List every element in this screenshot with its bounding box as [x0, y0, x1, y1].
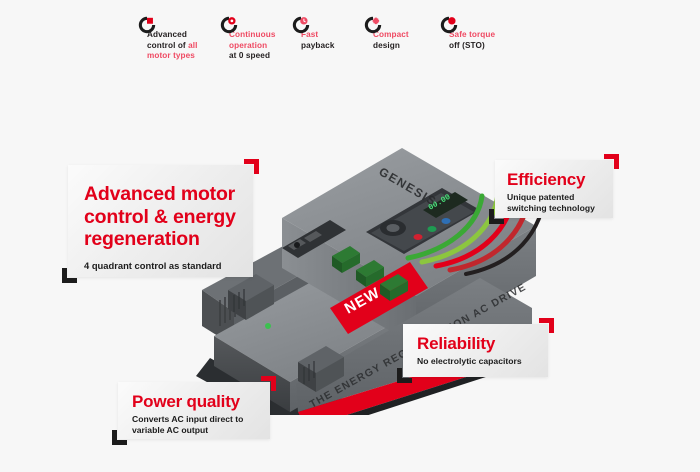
poster-canvas: Advanced control of all motor types Cont…: [0, 0, 700, 472]
feature-line-3: motor types: [147, 51, 195, 60]
callout-card-reliability: Reliability No electrolytic capacitors: [403, 324, 548, 377]
feature-strip: Advanced control of all motor types Cont…: [138, 16, 668, 76]
card-title: Advanced motor control & energy regenera…: [84, 183, 239, 251]
corner-bracket-bottom-left: [397, 368, 412, 383]
corner-bracket-top-right: [244, 159, 259, 174]
feature-line-2: operation: [229, 41, 267, 50]
compact-cross-icon: [364, 16, 382, 34]
rotation-arrow-icon: [138, 16, 156, 34]
feature-item-advanced-control: Advanced control of all motor types: [138, 16, 220, 62]
feature-item-compact-design: Compact design: [364, 16, 440, 51]
feature-line-2b: all: [188, 41, 197, 50]
feature-line-2: off (STO): [449, 41, 485, 50]
feature-item-continuous-operation: Continuous operation at 0 speed: [220, 16, 292, 62]
card-subtitle: Converts AC input direct to variable AC …: [132, 414, 260, 435]
corner-bracket-top-right: [539, 318, 554, 333]
card-subtitle: 4 quadrant control as standard: [84, 260, 239, 272]
callout-card-efficiency: Efficiency Unique patented switching tec…: [495, 160, 613, 218]
callout-card-advanced-motor-control: Advanced motor control & energy regenera…: [68, 165, 253, 277]
feature-line-2a: control of: [147, 41, 188, 50]
feature-line-2: payback: [301, 41, 334, 50]
card-title: Power quality: [132, 392, 260, 411]
zero-speed-icon: [220, 16, 238, 34]
run-key[interactable]: [428, 226, 437, 232]
feature-item-fast-payback: Fast payback: [292, 16, 364, 51]
corner-bracket-bottom-left: [112, 430, 127, 445]
card-subtitle: No electrolytic capacitors: [417, 356, 538, 367]
corner-bracket-top-right: [261, 376, 276, 391]
card-title: Reliability: [417, 334, 538, 353]
feature-line-2: design: [373, 41, 400, 50]
feature-item-safe-torque-off: Safe torque off (STO): [440, 16, 530, 51]
safe-torque-dot-icon: [440, 16, 458, 34]
corner-bracket-bottom-left: [489, 209, 504, 224]
callout-card-power-quality: Power quality Converts AC input direct t…: [118, 382, 270, 439]
mode-key[interactable]: [442, 218, 451, 224]
feature-line-3: at 0 speed: [229, 51, 270, 60]
payback-clock-icon: [292, 16, 310, 34]
card-title: Efficiency: [507, 170, 603, 189]
card-subtitle: Unique patented switching technology: [507, 192, 603, 213]
status-led-icon: [265, 323, 271, 329]
stop-key[interactable]: [414, 234, 423, 240]
corner-bracket-top-right: [604, 154, 619, 169]
corner-bracket-bottom-left: [62, 268, 77, 283]
